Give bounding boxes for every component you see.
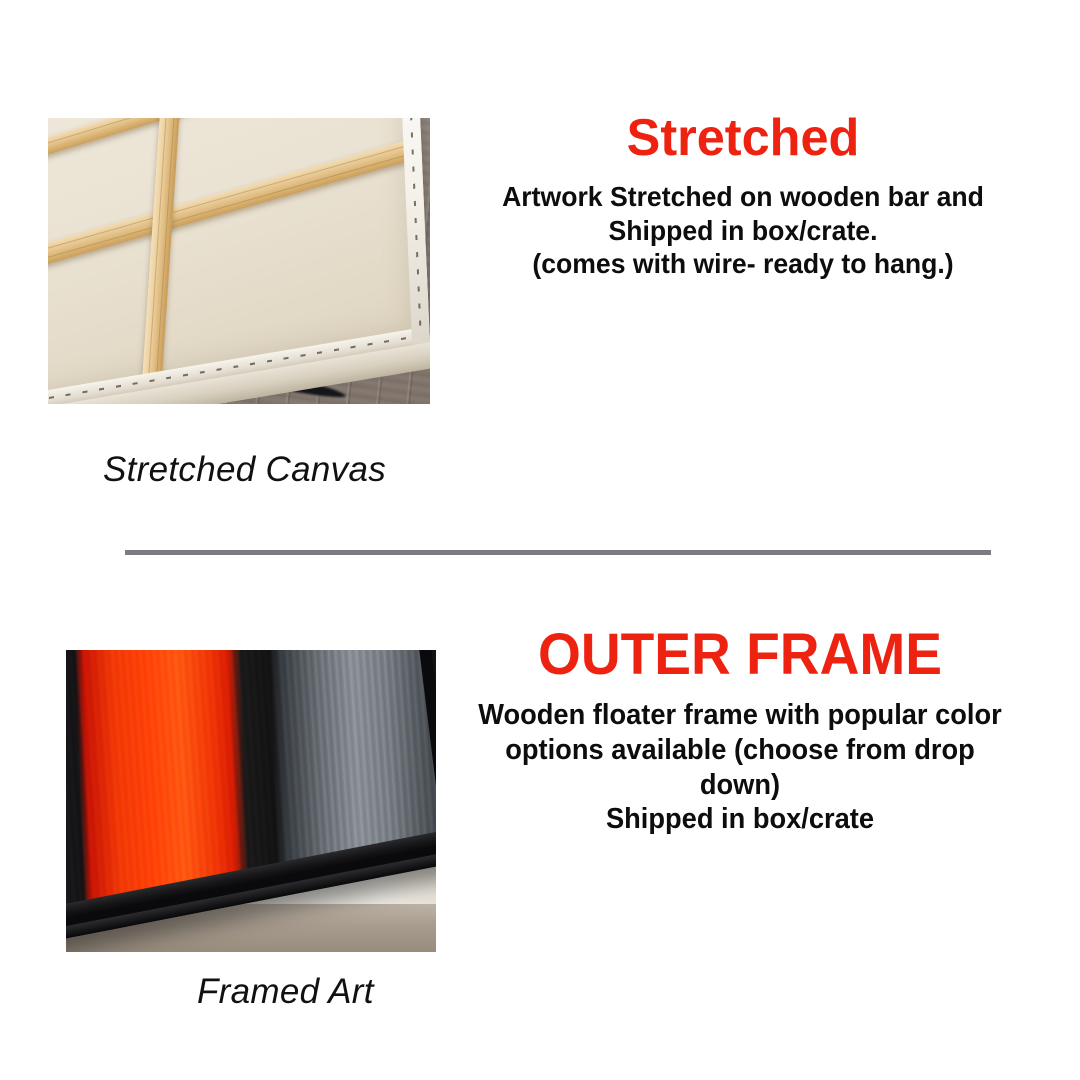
section-divider	[125, 550, 991, 555]
framed-art-photo	[66, 650, 436, 952]
stretched-heading: Stretched	[443, 112, 1042, 164]
stretched-canvas-photo	[48, 118, 430, 404]
caption-stretched-canvas: Stretched Canvas	[103, 450, 386, 490]
stretched-body-line-3: (comes with wire- ready to hang.)	[449, 247, 1036, 281]
outer-frame-body-line-2: options available (choose from drop	[439, 733, 1041, 768]
canvas-face	[48, 118, 430, 404]
stretched-canvas-body	[48, 118, 430, 404]
outer-frame-body-line-1: Wooden floater frame with popular color	[439, 698, 1041, 733]
outer-frame-body-line-3: down)	[439, 768, 1041, 803]
caption-framed-art: Framed Art	[197, 972, 374, 1012]
stretched-body-line-2: Shipped in box/crate.	[449, 214, 1036, 248]
outer-frame-text-column: OUTER FRAME Wooden floater frame with po…	[420, 626, 1060, 837]
stretched-body-line-1: Artwork Stretched on wooden bar and	[449, 180, 1036, 214]
infographic-page: Stretched Canvas Stretched Artwork Stret…	[0, 0, 1080, 1080]
stretched-text-column: Stretched Artwork Stretched on wooden ba…	[434, 112, 1052, 281]
outer-frame-body-line-4: Shipped in box/crate	[439, 802, 1041, 837]
outer-frame-heading: OUTER FRAME	[436, 626, 1044, 684]
